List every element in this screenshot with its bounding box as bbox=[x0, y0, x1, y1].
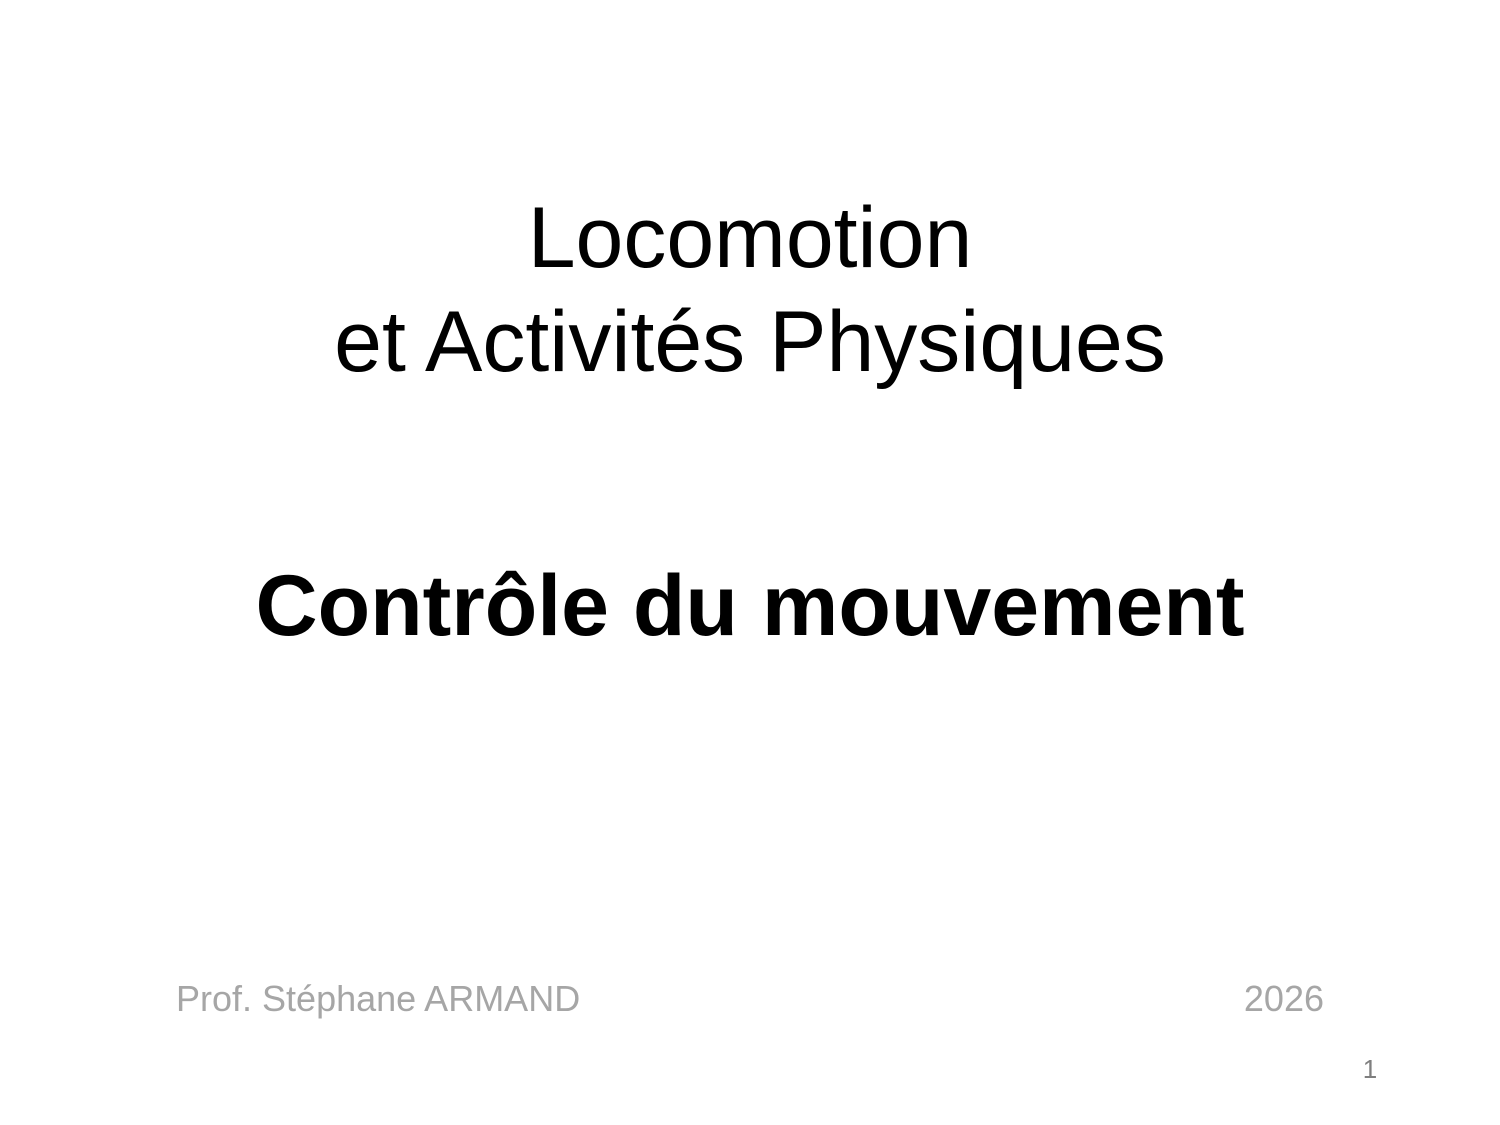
slide-number: 1 bbox=[1330, 1053, 1410, 1085]
footer-author: Prof. Stéphane ARMAND bbox=[176, 977, 580, 1021]
slide-subtitle: Contrôle du mouvement bbox=[0, 554, 1500, 658]
subtitle-line-1: Contrôle du mouvement bbox=[0, 554, 1500, 658]
slide-footer: Prof. Stéphane ARMAND 2026 bbox=[176, 977, 1324, 1021]
presentation-slide: Locomotion et Activités Physiques Contrô… bbox=[0, 0, 1500, 1125]
slide-title: Locomotion et Activités Physiques bbox=[0, 186, 1500, 394]
title-line-1: Locomotion bbox=[0, 186, 1500, 290]
title-line-2: et Activités Physiques bbox=[0, 290, 1500, 394]
footer-year: 2026 bbox=[1244, 977, 1324, 1021]
